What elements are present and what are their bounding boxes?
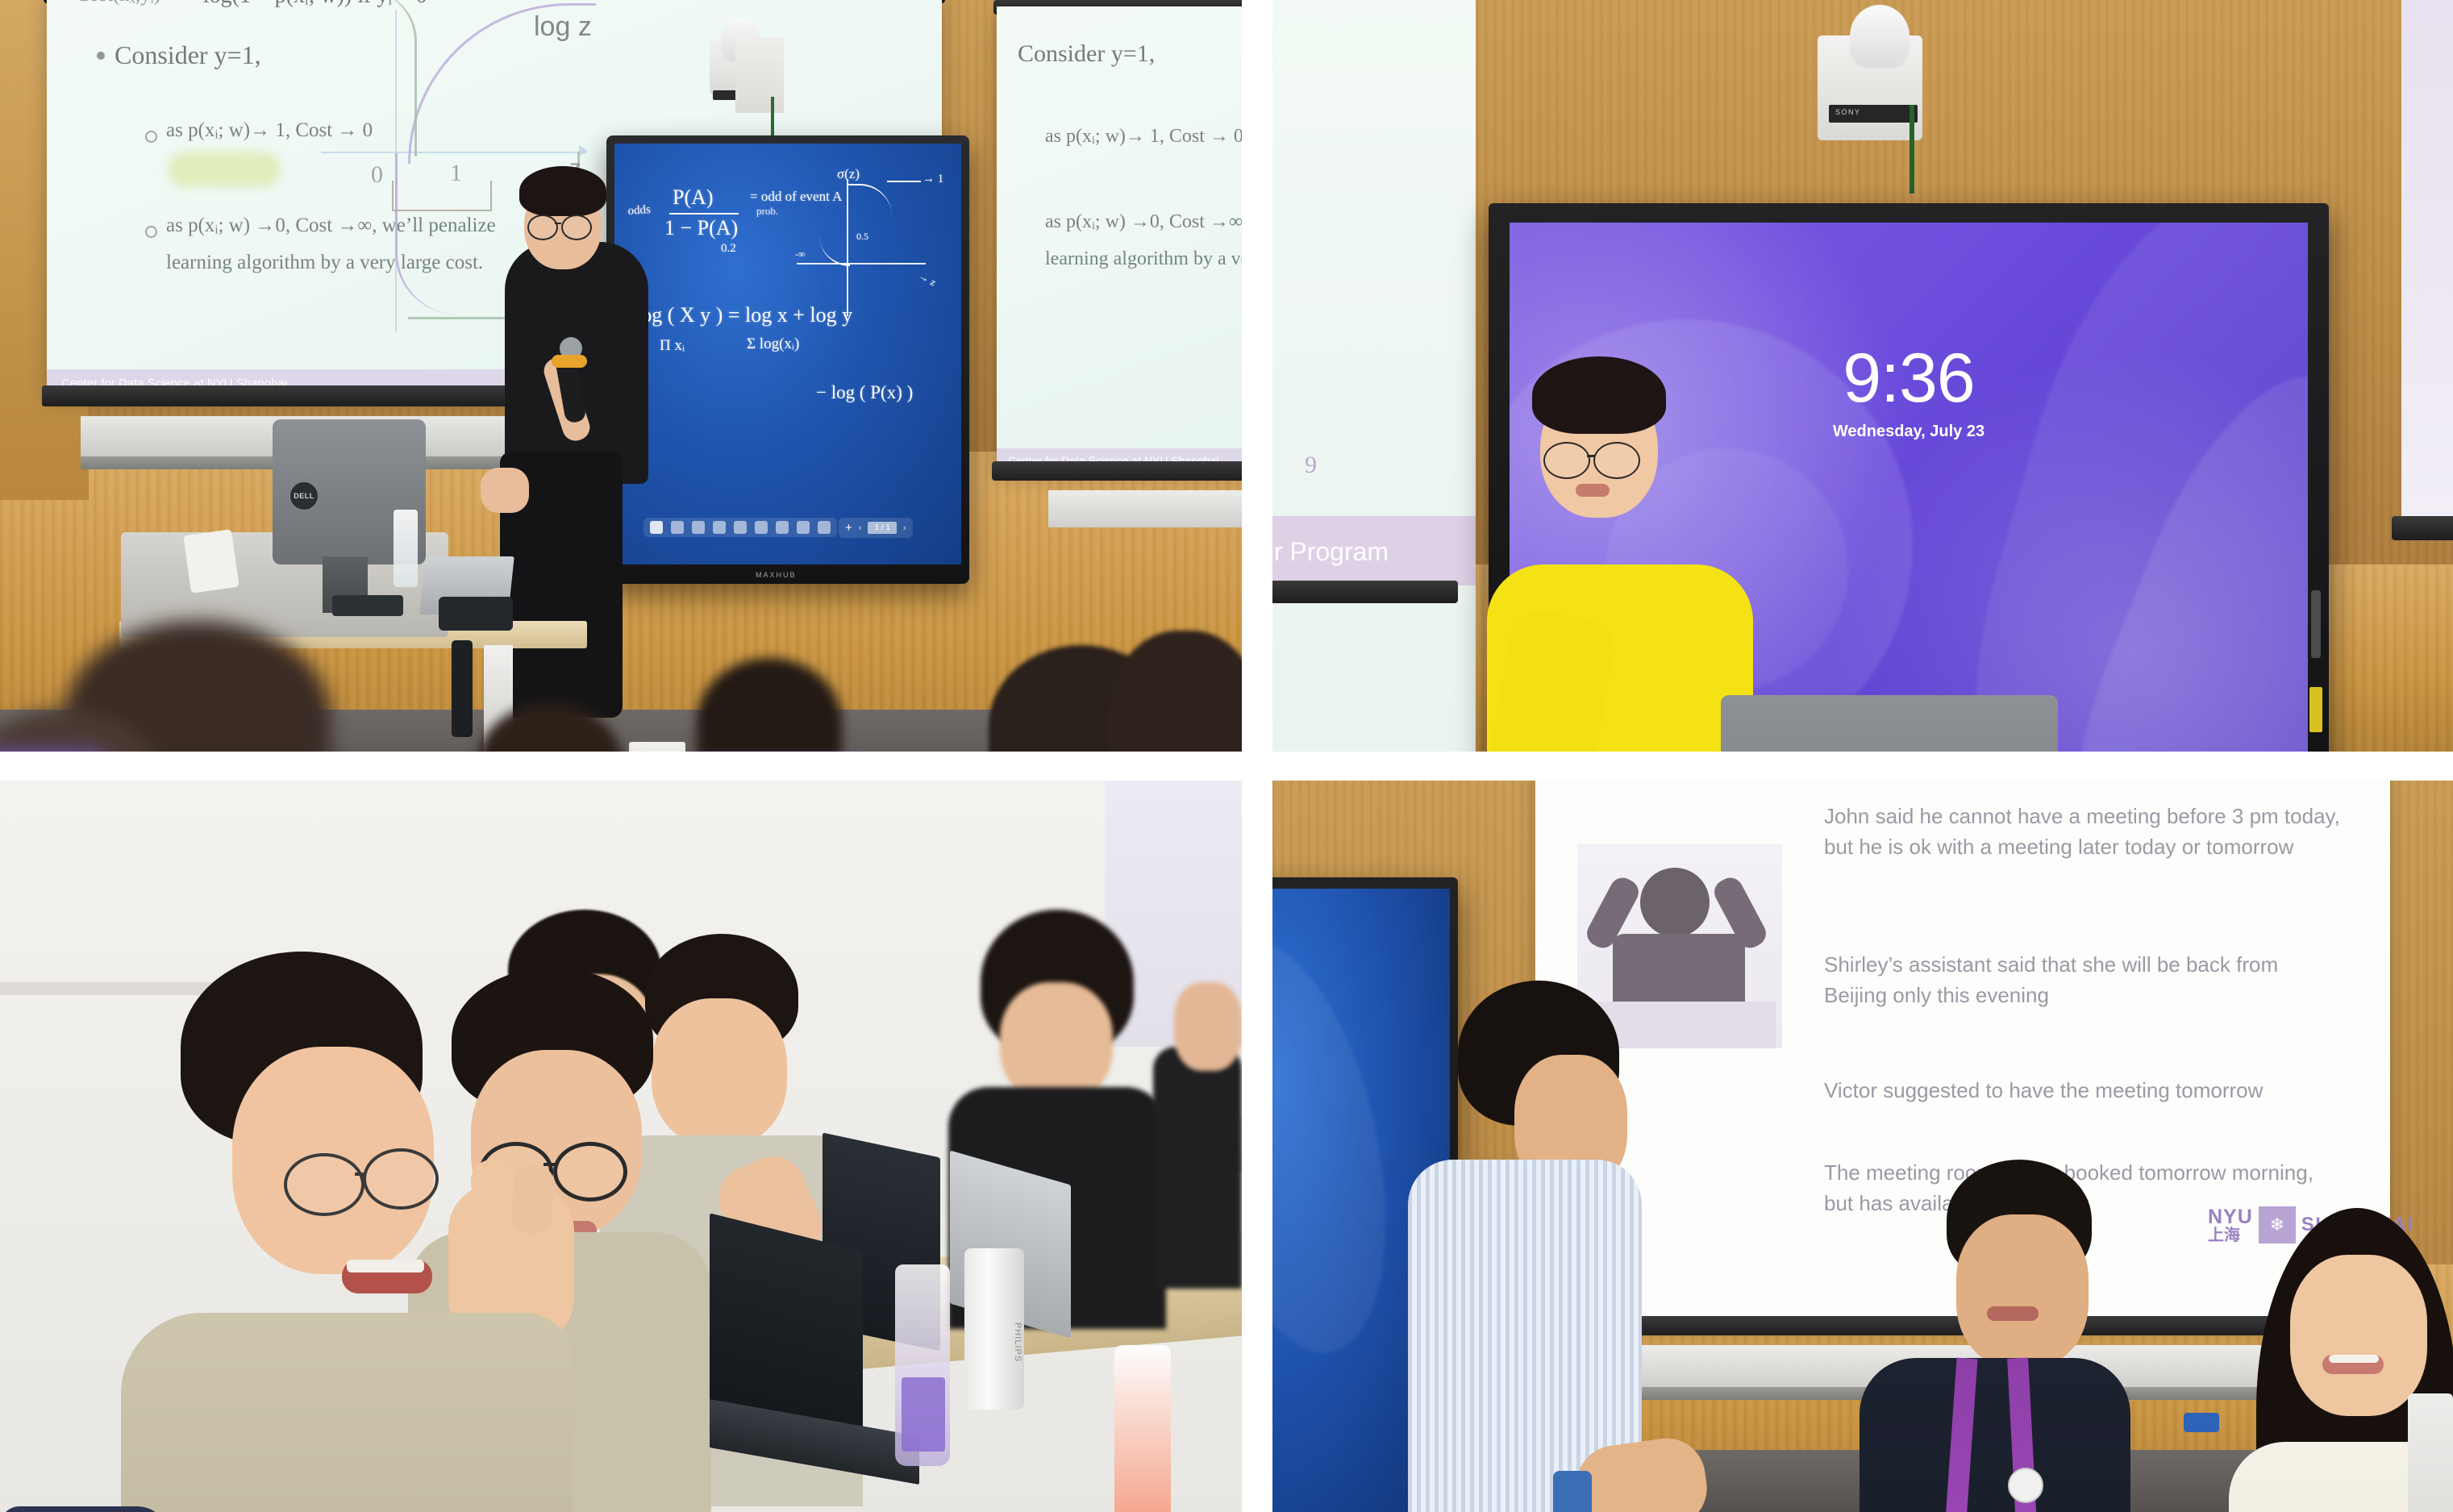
bl-student2-glasses-right-icon [553, 1142, 627, 1202]
stock-photo-head [1640, 868, 1710, 937]
br-cabinet-right [2408, 1393, 2453, 1512]
speaker-hair [1532, 356, 1666, 434]
bl-chair-foreground [0, 1506, 169, 1512]
tr-side-screen [1272, 0, 1476, 752]
display-side-button[interactable] [2311, 590, 2321, 658]
bl-student3-face [652, 998, 787, 1147]
whiteboard-toolbar[interactable] [643, 518, 837, 537]
photo-bottom-right: … and I have contacted them. John said h… [1272, 781, 2453, 1512]
settings-gear-icon[interactable] [818, 521, 831, 534]
ink-sigmoid-lower [819, 221, 850, 266]
eraser-tool-icon[interactable] [692, 521, 705, 534]
bullet-dot-icon [97, 52, 105, 60]
br-person-centre-face [1956, 1214, 2089, 1368]
photo-top-right: 9 er Program SONY 9:36 Wednesday, July 2… [1272, 0, 2453, 752]
maxhub-brand-label: MAXHUB [756, 571, 797, 579]
grid-cell-top-left: Cost(hₓ,yᵢ) −log(1 − p(xᵢ; w)) if yᵢ = 0… [0, 0, 1258, 766]
whiteboard-page-control[interactable]: + ‹ 1 / 1 › [839, 518, 913, 538]
ink-neg-log-p: − log ( P(x) ) [816, 382, 913, 403]
ink-pi-xi: Π xᵢ [660, 337, 685, 355]
photo-grid: Cost(hₓ,yᵢ) −log(1 − p(xᵢ; w)) if yᵢ = 0… [0, 0, 2453, 1512]
sub-bullet-dot-icon-1 [145, 131, 157, 143]
ink-sigmoid-asymptote [887, 181, 921, 182]
bl-student-body-far-2 [1153, 1047, 1242, 1289]
share-icon[interactable] [797, 521, 810, 534]
tr-right-screen-edge [2401, 0, 2453, 532]
ink-prob: prob. [756, 205, 778, 218]
photo-top-left: Cost(hₓ,yᵢ) −log(1 − p(xᵢ; w)) if yᵢ = 0… [0, 0, 1242, 752]
slide-subitem-1: as p(xᵢ; w)→ 1, Cost → 0 [166, 119, 373, 142]
ink-half: 0.5 [856, 231, 868, 243]
highlight-smudge [168, 152, 281, 187]
br-person-left-wristband [1553, 1471, 1592, 1512]
ink-odds: odds [627, 203, 651, 219]
ink-sum-log: Σ log(xᵢ) [747, 335, 799, 353]
wall-socket-plate [735, 37, 784, 113]
graph-curve-log-lower [395, 153, 457, 314]
graph-label-logz: log z [534, 11, 592, 43]
nyu-logo-word: NYU [2208, 1207, 2253, 1227]
bl-student-face-far-1 [1000, 982, 1113, 1103]
bl-student1-glasses-right-icon [363, 1148, 439, 1210]
speaker-glasses-left-icon [1543, 442, 1590, 479]
add-page-icon[interactable]: + [845, 521, 852, 535]
bl-water-bottle-2 [1114, 1345, 1171, 1512]
whiteboard-tray-right [1048, 490, 1242, 527]
sub-bullet-dot-icon-2 [145, 226, 157, 238]
nyu-logo-word-cn: 上海 [2208, 1227, 2240, 1243]
speaker-glasses-bridge [1587, 455, 1595, 457]
paper-sheet [183, 529, 239, 594]
graph-curve-neglog-upper [366, 0, 417, 156]
maxhub-board-frame: odds P(A) 1 − P(A) = odd of event A prob… [606, 135, 969, 584]
bl-student2-glasses-bridge [543, 1163, 555, 1166]
br-person-centre-shirt [1860, 1358, 2130, 1512]
tr-side-slide-page-number: 9 [1305, 452, 1317, 479]
br-person-right-face [2290, 1255, 2427, 1416]
tr-dell-monitor-back [1721, 695, 2058, 752]
bl-student1-teeth [347, 1260, 424, 1272]
page-indicator: 1 / 1 [868, 522, 896, 534]
projection-screen-right: Consider y=1, as p(xᵢ; w)→ 1, Cost → 0 a… [997, 6, 1242, 473]
ink-fraction-bar [669, 213, 739, 215]
grid-cell-bottom-right: … and I have contacted them. John said h… [1258, 766, 2453, 1512]
undo-icon[interactable] [713, 521, 726, 534]
bl-student1-glasses-left-icon [284, 1153, 364, 1216]
tr-right-screen-bar [2392, 516, 2453, 540]
presenter-hair [519, 166, 606, 216]
pen-tool-icon[interactable] [671, 521, 684, 534]
speaker-glasses-right-icon [1593, 442, 1640, 479]
ink-arrow-one: → 1 [922, 173, 943, 186]
grid-cell-bottom-left: PHILIPS Xingyi L [0, 766, 1258, 1512]
ink-sigma-z: σ(z) [837, 166, 860, 182]
tr-side-slide-footer-text: er Program [1272, 537, 1389, 567]
ink-1-minus-pa: 1 − P(A) [664, 216, 738, 240]
tr-sony-camera-dome [1850, 5, 1910, 68]
ink-pa: P(A) [673, 185, 714, 210]
ink-sigmoid-xaxis [797, 263, 926, 264]
sony-brand-text: SONY [1835, 108, 1861, 116]
nyu-torch-mark-icon: ❄ [2259, 1206, 2296, 1243]
slide-bullet-1: Consider y=1, [115, 40, 261, 70]
tr-side-slide-footer-band: er Program [1272, 516, 1476, 585]
br-slide-line-2: Shirley’s assistant said that she will b… [1824, 950, 2340, 1010]
br-person-right-teeth [2329, 1355, 2379, 1363]
ink-point-two: 0.2 [721, 242, 736, 256]
graph-brace [392, 181, 492, 211]
ink-log-product: log ( X y ) = log x + log y [635, 303, 852, 327]
slide-equation-prefix: Cost(hₓ,yᵢ) [76, 0, 160, 6]
slide-right-bullet: Consider y=1, [1018, 40, 1155, 68]
screen-right-bottom-bar [992, 461, 1242, 481]
br-whiteboard-eraser [2184, 1413, 2219, 1432]
copy-icon[interactable] [776, 521, 789, 534]
tr-sony-camera-label: SONY [1829, 105, 1918, 123]
wall-power-outlet [629, 742, 685, 752]
bl-tumbler-brand: PHILIPS [966, 1322, 1022, 1360]
graph-tick-zero: 0 [371, 161, 383, 189]
water-bottle-podium [394, 510, 418, 587]
presenter-left-hand [481, 468, 529, 513]
presenter-glasses-bridge [555, 223, 561, 224]
ink-arrow-z: → z [916, 269, 938, 289]
bl-water-bottle-1-label [902, 1377, 945, 1452]
cable-chain [452, 640, 473, 737]
ink-neg-inf: -∞ [795, 248, 806, 260]
tr-side-screen-bar [1272, 581, 1458, 603]
zoom-icon[interactable] [755, 521, 768, 534]
bl-student-face-far-2 [1174, 982, 1242, 1071]
br-person-centre-mouth [1987, 1306, 2039, 1321]
next-page-icon[interactable]: › [903, 523, 906, 533]
redo-icon[interactable] [734, 521, 747, 534]
speaker-mouth [1576, 484, 1610, 497]
br-side-display-ribbon [1272, 923, 1419, 1370]
br-slide-line-1: John said he cannot have a meeting befor… [1824, 802, 2340, 862]
slide-right-sub-3: learning algorithm by a very large cost. [1045, 248, 1242, 270]
prev-page-icon[interactable]: ‹ [859, 523, 862, 533]
photo-bottom-left: PHILIPS Xingyi L [0, 781, 1242, 1512]
br-shirt-crest-icon [2008, 1468, 2043, 1503]
ink-sigmoid-upper [847, 184, 892, 223]
presenter-glasses-right-icon [561, 215, 592, 240]
select-tool-icon[interactable] [650, 521, 663, 534]
display-side-sticker [2309, 687, 2322, 732]
microphone-foam-ring [552, 355, 587, 368]
podium-phone [439, 597, 513, 631]
bl-student1-shirt [121, 1313, 573, 1512]
bl-student2-finger-2 [510, 1163, 556, 1235]
maxhub-board-canvas[interactable]: odds P(A) 1 − P(A) = odd of event A prob… [614, 144, 961, 564]
br-slide-line-3: Victor suggested to have the meeting tom… [1824, 1076, 2356, 1106]
slide-right-sub-1: as p(xᵢ; w)→ 1, Cost → 0 [1045, 126, 1242, 148]
grid-cell-top-right: 9 er Program SONY 9:36 Wednesday, July 2… [1258, 0, 2453, 766]
tr-camera-cable [1910, 105, 1914, 194]
dell-logo-icon: DELL [289, 481, 319, 511]
presenter-glasses-left-icon [527, 215, 558, 240]
slide-right-sub-2: as p(xᵢ; w) →0, Cost →∞, we’ll penalize [1045, 211, 1242, 233]
podium-cables [332, 595, 403, 616]
ink-odds-def: = odd of event A [750, 189, 842, 205]
bl-student1-glasses-bridge [355, 1173, 366, 1176]
